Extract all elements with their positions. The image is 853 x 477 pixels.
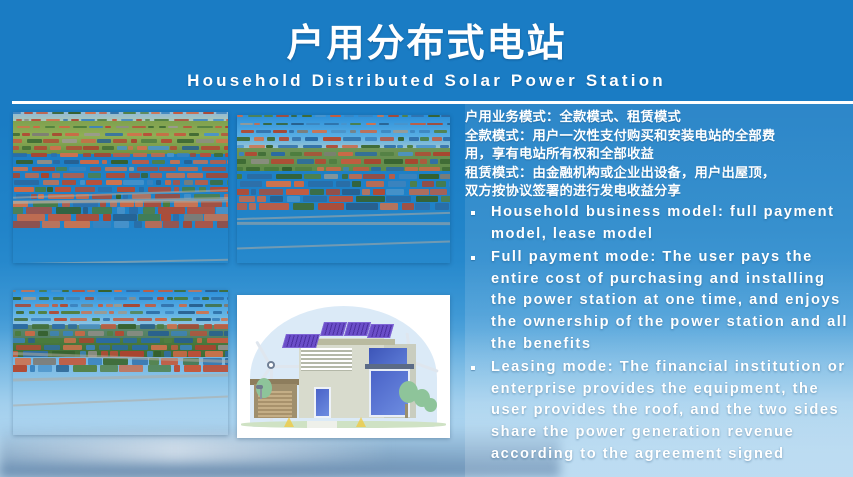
rooftop	[197, 126, 214, 129]
rooftop	[440, 159, 450, 163]
rooftop	[161, 139, 172, 142]
rooftop	[151, 345, 167, 350]
bullet-item-1: Household business model: full payment m…	[465, 202, 853, 245]
chinese-line-3: 用，享有电站所有权和全部收益	[465, 145, 850, 164]
rooftop	[379, 123, 388, 125]
rooftop	[26, 207, 53, 213]
rooftop	[137, 146, 147, 150]
rooftop	[177, 153, 188, 157]
rooftop	[66, 146, 82, 150]
rooftop	[342, 189, 361, 195]
rooftop	[239, 152, 244, 156]
rooftop	[286, 189, 309, 195]
rooftop	[16, 119, 22, 121]
road	[13, 396, 228, 407]
rooftop	[237, 159, 246, 163]
rooftop	[420, 159, 427, 163]
rooftop	[409, 189, 430, 195]
rooftop	[358, 115, 373, 117]
rooftop	[121, 119, 134, 121]
rooftop	[430, 159, 438, 163]
rooftop	[79, 324, 100, 328]
rooftop	[225, 153, 228, 157]
rooftop	[336, 181, 350, 187]
rooftop	[164, 351, 172, 357]
rooftop	[39, 338, 59, 343]
rooftop	[35, 187, 45, 192]
rooftop	[113, 153, 130, 157]
rooftop	[62, 139, 77, 142]
rooftop	[97, 297, 110, 299]
rooftop	[326, 189, 340, 195]
rooftop	[45, 126, 56, 129]
rooftop	[151, 153, 165, 157]
rooftop	[195, 345, 217, 350]
rooftop	[15, 358, 32, 364]
chinese-line-1: 户用业务模式：全款模式、租赁模式	[465, 108, 850, 127]
rooftop	[129, 167, 135, 171]
rooftop	[292, 137, 300, 140]
rooftop	[143, 133, 151, 136]
rooftop	[129, 173, 139, 178]
rooftop	[105, 167, 127, 171]
rooftop	[114, 221, 129, 228]
rooftop	[221, 318, 228, 322]
photo3-rooftops	[13, 290, 228, 435]
rooftop	[44, 345, 61, 350]
rooftop	[171, 318, 192, 322]
rooftop	[240, 123, 253, 125]
rooftop	[49, 311, 59, 314]
rooftop	[297, 130, 307, 133]
rooftop	[315, 159, 326, 163]
rooftop	[193, 119, 208, 121]
rooftop	[123, 304, 140, 307]
rooftop	[39, 290, 47, 292]
rooftop	[258, 152, 266, 156]
chinese-paragraph: 户用业务模式：全款模式、租赁模式全款模式：用户一次性支付购买和安装电站的全部费用…	[465, 108, 850, 201]
rooftop	[117, 207, 124, 213]
rooftop	[59, 358, 86, 364]
rooftop	[141, 139, 157, 142]
rooftop	[86, 180, 102, 185]
rooftop	[54, 318, 68, 322]
rooftop	[440, 174, 450, 179]
rooftop	[427, 123, 442, 125]
rooftop	[193, 160, 208, 164]
rooftop	[388, 181, 406, 187]
rooftop	[394, 123, 408, 125]
rooftop	[196, 318, 211, 322]
rooftop	[342, 145, 358, 149]
rooftop	[116, 126, 129, 129]
rooftop	[204, 133, 220, 136]
rooftop	[251, 159, 269, 163]
rooftop	[210, 180, 223, 185]
page-title-cn: 户用分布式电站	[0, 22, 853, 66]
rooftop	[182, 146, 199, 150]
house-upper-window	[369, 348, 407, 365]
rooftop	[143, 290, 154, 292]
rooftop	[353, 167, 368, 172]
rooftop	[247, 174, 272, 179]
rooftop	[32, 324, 49, 328]
rooftop	[106, 180, 122, 185]
rooftop	[174, 133, 186, 136]
rooftop	[216, 112, 227, 114]
rooftop	[183, 126, 193, 129]
rooftop	[282, 167, 292, 172]
rooftop	[60, 304, 68, 307]
rooftop	[402, 203, 414, 210]
rooftop	[171, 345, 178, 350]
rooftop	[13, 173, 20, 178]
rooftop	[113, 214, 137, 221]
rooftop	[16, 160, 33, 164]
rooftop	[324, 152, 336, 156]
rooftop	[257, 196, 266, 202]
rooftop	[166, 173, 186, 178]
rooftop	[138, 214, 160, 221]
rooftop	[203, 365, 228, 372]
rooftop	[33, 358, 56, 364]
rooftop	[70, 304, 78, 307]
rooftop	[187, 207, 214, 213]
rooftop	[161, 112, 170, 114]
rooftop	[436, 181, 446, 187]
rooftop	[159, 126, 166, 129]
rooftop	[148, 126, 154, 129]
rooftop	[98, 187, 113, 192]
rooftop	[81, 119, 96, 121]
rooftop	[384, 159, 403, 163]
rooftop	[434, 130, 447, 133]
rooftop	[141, 338, 160, 343]
rooftop	[211, 297, 224, 299]
rooftop	[165, 311, 175, 314]
rooftop	[109, 311, 114, 314]
rooftop	[165, 180, 171, 185]
rooftop	[386, 189, 404, 195]
rooftop	[237, 189, 249, 195]
rooftop	[306, 123, 320, 125]
rooftop	[161, 214, 171, 221]
rooftop	[398, 137, 404, 140]
rooftop	[384, 145, 396, 149]
rooftop	[380, 137, 394, 140]
rooftop	[201, 146, 219, 150]
rooftop	[25, 173, 39, 178]
rooftop	[145, 304, 155, 307]
rooftop	[174, 297, 188, 299]
rooftop	[273, 130, 287, 133]
rooftop	[145, 221, 161, 228]
rooftop	[330, 115, 341, 117]
rooftop	[227, 311, 228, 314]
rooftop	[29, 311, 35, 314]
rooftop	[15, 304, 31, 307]
rooftop	[237, 145, 244, 149]
solar-panel-1-icon	[282, 334, 320, 348]
rooftop	[419, 167, 440, 172]
rooftop	[46, 119, 61, 121]
rooftop	[287, 196, 300, 202]
rooftop	[31, 318, 50, 322]
rooftop	[13, 290, 16, 292]
rooftop	[442, 167, 450, 172]
rooftop	[310, 189, 324, 195]
rooftop	[33, 126, 40, 129]
rooftop	[16, 345, 41, 350]
rooftop	[173, 112, 183, 114]
photo-village-solar	[237, 115, 450, 263]
rooftop	[65, 133, 80, 136]
rooftop	[173, 180, 180, 185]
rooftop	[289, 130, 294, 133]
rooftop	[147, 180, 154, 185]
rooftop	[88, 331, 103, 336]
rooftop	[397, 145, 403, 149]
rooftop	[346, 203, 377, 210]
rooftop	[237, 137, 250, 140]
rooftop	[188, 290, 202, 292]
rooftop	[111, 160, 128, 164]
rooftop	[352, 181, 361, 187]
rooftop	[30, 365, 35, 372]
rooftop	[279, 137, 289, 140]
rooftop	[433, 152, 450, 156]
rooftop	[324, 123, 339, 125]
rooftop	[405, 167, 418, 172]
rooftop	[324, 174, 338, 179]
rooftop	[415, 203, 430, 210]
rooftop	[115, 331, 124, 336]
rooftop	[22, 133, 30, 136]
rooftop	[132, 126, 146, 129]
photo-house-illustration	[237, 295, 450, 438]
rooftop	[179, 304, 186, 307]
rooftop	[416, 196, 438, 202]
rooftop	[356, 196, 384, 202]
rooftop	[15, 331, 21, 336]
rooftop	[83, 146, 99, 150]
rooftop	[318, 203, 344, 210]
rooftop	[81, 304, 93, 307]
rooftop	[237, 115, 243, 117]
rooftop	[129, 297, 135, 299]
rooftop	[216, 207, 228, 213]
rooftop	[123, 338, 137, 343]
rooftop	[117, 146, 127, 150]
rooftop	[127, 331, 142, 336]
rooftop	[259, 189, 283, 195]
rooftop	[195, 221, 213, 228]
rooftop	[41, 173, 50, 178]
rooftop	[264, 167, 279, 172]
rooftop	[103, 214, 111, 221]
rooftop	[350, 123, 361, 125]
rooftop	[73, 126, 87, 129]
rooftop	[249, 145, 265, 149]
rooftop	[38, 331, 48, 336]
rooftop	[237, 167, 243, 172]
rooftop	[103, 318, 111, 322]
rooftop	[75, 187, 96, 192]
rooftop	[329, 159, 337, 163]
rooftop	[323, 137, 341, 140]
rooftop	[161, 304, 175, 307]
rooftop	[93, 221, 111, 228]
rooftop	[158, 290, 172, 292]
rooftop	[87, 290, 95, 292]
rooftop	[377, 115, 384, 117]
rooftop	[305, 137, 318, 140]
rooftop	[249, 203, 256, 210]
rooftop	[139, 297, 154, 299]
bullet-item-2: Full payment mode: The user pays the ent…	[465, 247, 853, 355]
rooftop	[69, 167, 86, 171]
rooftop	[380, 203, 397, 210]
rooftop	[373, 189, 385, 195]
rooftop	[291, 115, 297, 117]
rooftop	[251, 189, 256, 195]
rooftop	[355, 152, 377, 156]
rooftop	[217, 221, 228, 228]
rooftop	[105, 133, 123, 136]
rooftop	[178, 167, 197, 171]
rooftop	[114, 297, 127, 299]
rooftop	[14, 180, 38, 185]
rooftop	[218, 345, 228, 350]
rooftop	[407, 145, 414, 149]
rooftop	[303, 145, 322, 149]
rooftop	[62, 290, 69, 292]
rooftop	[167, 324, 177, 328]
rooftop	[64, 338, 76, 343]
rooftop	[84, 133, 100, 136]
house-entry-steps	[307, 421, 337, 428]
road	[13, 373, 228, 381]
rooftop	[163, 221, 179, 228]
rooftop	[110, 112, 119, 114]
rooftop	[13, 324, 28, 328]
rooftop	[170, 160, 180, 164]
rooftop	[209, 331, 223, 336]
rooftop	[81, 139, 96, 142]
rooftop	[62, 180, 76, 185]
rooftop	[152, 160, 165, 164]
rooftop	[63, 173, 84, 178]
rooftop	[98, 304, 103, 307]
rooftop	[344, 115, 354, 117]
rooftop	[13, 338, 25, 343]
rooftop	[422, 181, 433, 187]
rooftop	[240, 181, 262, 187]
rooftop	[342, 174, 348, 179]
rooftop	[326, 145, 338, 149]
rooftop	[83, 153, 91, 157]
rooftop	[37, 160, 52, 164]
rooftop	[259, 203, 289, 210]
rooftop	[263, 123, 272, 125]
chinese-line-5: 双方按协议签署的进行发电收益分享	[465, 182, 850, 201]
rooftop	[43, 139, 60, 142]
rooftop	[113, 139, 127, 142]
rooftop	[360, 130, 377, 133]
slide-header: 户用分布式电站 Household Distributed Solar Powe…	[0, 0, 853, 103]
rooftop	[441, 115, 450, 117]
rooftop	[203, 112, 215, 114]
rooftop	[214, 153, 224, 157]
rooftop	[447, 123, 450, 125]
rooftop	[68, 324, 77, 328]
rooftop	[415, 152, 432, 156]
rooftop	[241, 130, 255, 133]
house-front-door	[314, 387, 331, 418]
rooftop	[248, 115, 262, 117]
rooftop	[112, 119, 117, 121]
rooftop	[410, 181, 418, 187]
rooftop	[129, 207, 138, 213]
rooftop	[380, 152, 395, 156]
rooftop	[440, 145, 449, 149]
rooftop	[146, 311, 159, 314]
rooftop	[25, 331, 35, 336]
rooftop	[155, 318, 167, 322]
lamp-head-left	[256, 385, 263, 389]
rooftop	[443, 137, 450, 140]
rooftop	[361, 145, 380, 149]
rooftop	[173, 351, 187, 357]
rooftop	[100, 365, 118, 372]
rooftop	[88, 173, 102, 178]
rooftop	[329, 196, 352, 202]
rooftop	[386, 167, 404, 172]
rooftop	[137, 318, 152, 322]
rooftop	[349, 174, 362, 179]
rooftop	[386, 196, 412, 202]
rooftop	[75, 331, 85, 336]
rooftop	[350, 130, 356, 133]
rooftop	[117, 187, 136, 192]
rooftop	[184, 365, 202, 372]
rooftop	[140, 324, 155, 328]
rooftop	[276, 174, 302, 179]
rooftop	[202, 167, 225, 171]
rooftop	[128, 146, 133, 150]
rooftop	[47, 187, 53, 192]
rooftop	[131, 139, 137, 142]
rooftop	[364, 159, 381, 163]
rooftop	[76, 214, 99, 221]
rooftop	[343, 167, 349, 172]
rooftop	[13, 297, 21, 299]
rooftop	[113, 318, 134, 322]
rooftop	[36, 112, 47, 114]
rooftop	[106, 304, 113, 307]
rooftop	[341, 159, 361, 163]
rooftop	[266, 145, 273, 149]
ground-light-1-icon	[284, 417, 294, 427]
rooftop	[28, 338, 35, 343]
rooftop	[271, 159, 294, 163]
rooftop	[61, 311, 80, 314]
rooftop	[23, 297, 37, 299]
slide-canvas: 户用分布式电站 Household Distributed Solar Powe…	[0, 0, 853, 477]
photo2-rooftops	[237, 115, 450, 263]
rooftop	[101, 324, 116, 328]
rooftop	[126, 290, 140, 292]
